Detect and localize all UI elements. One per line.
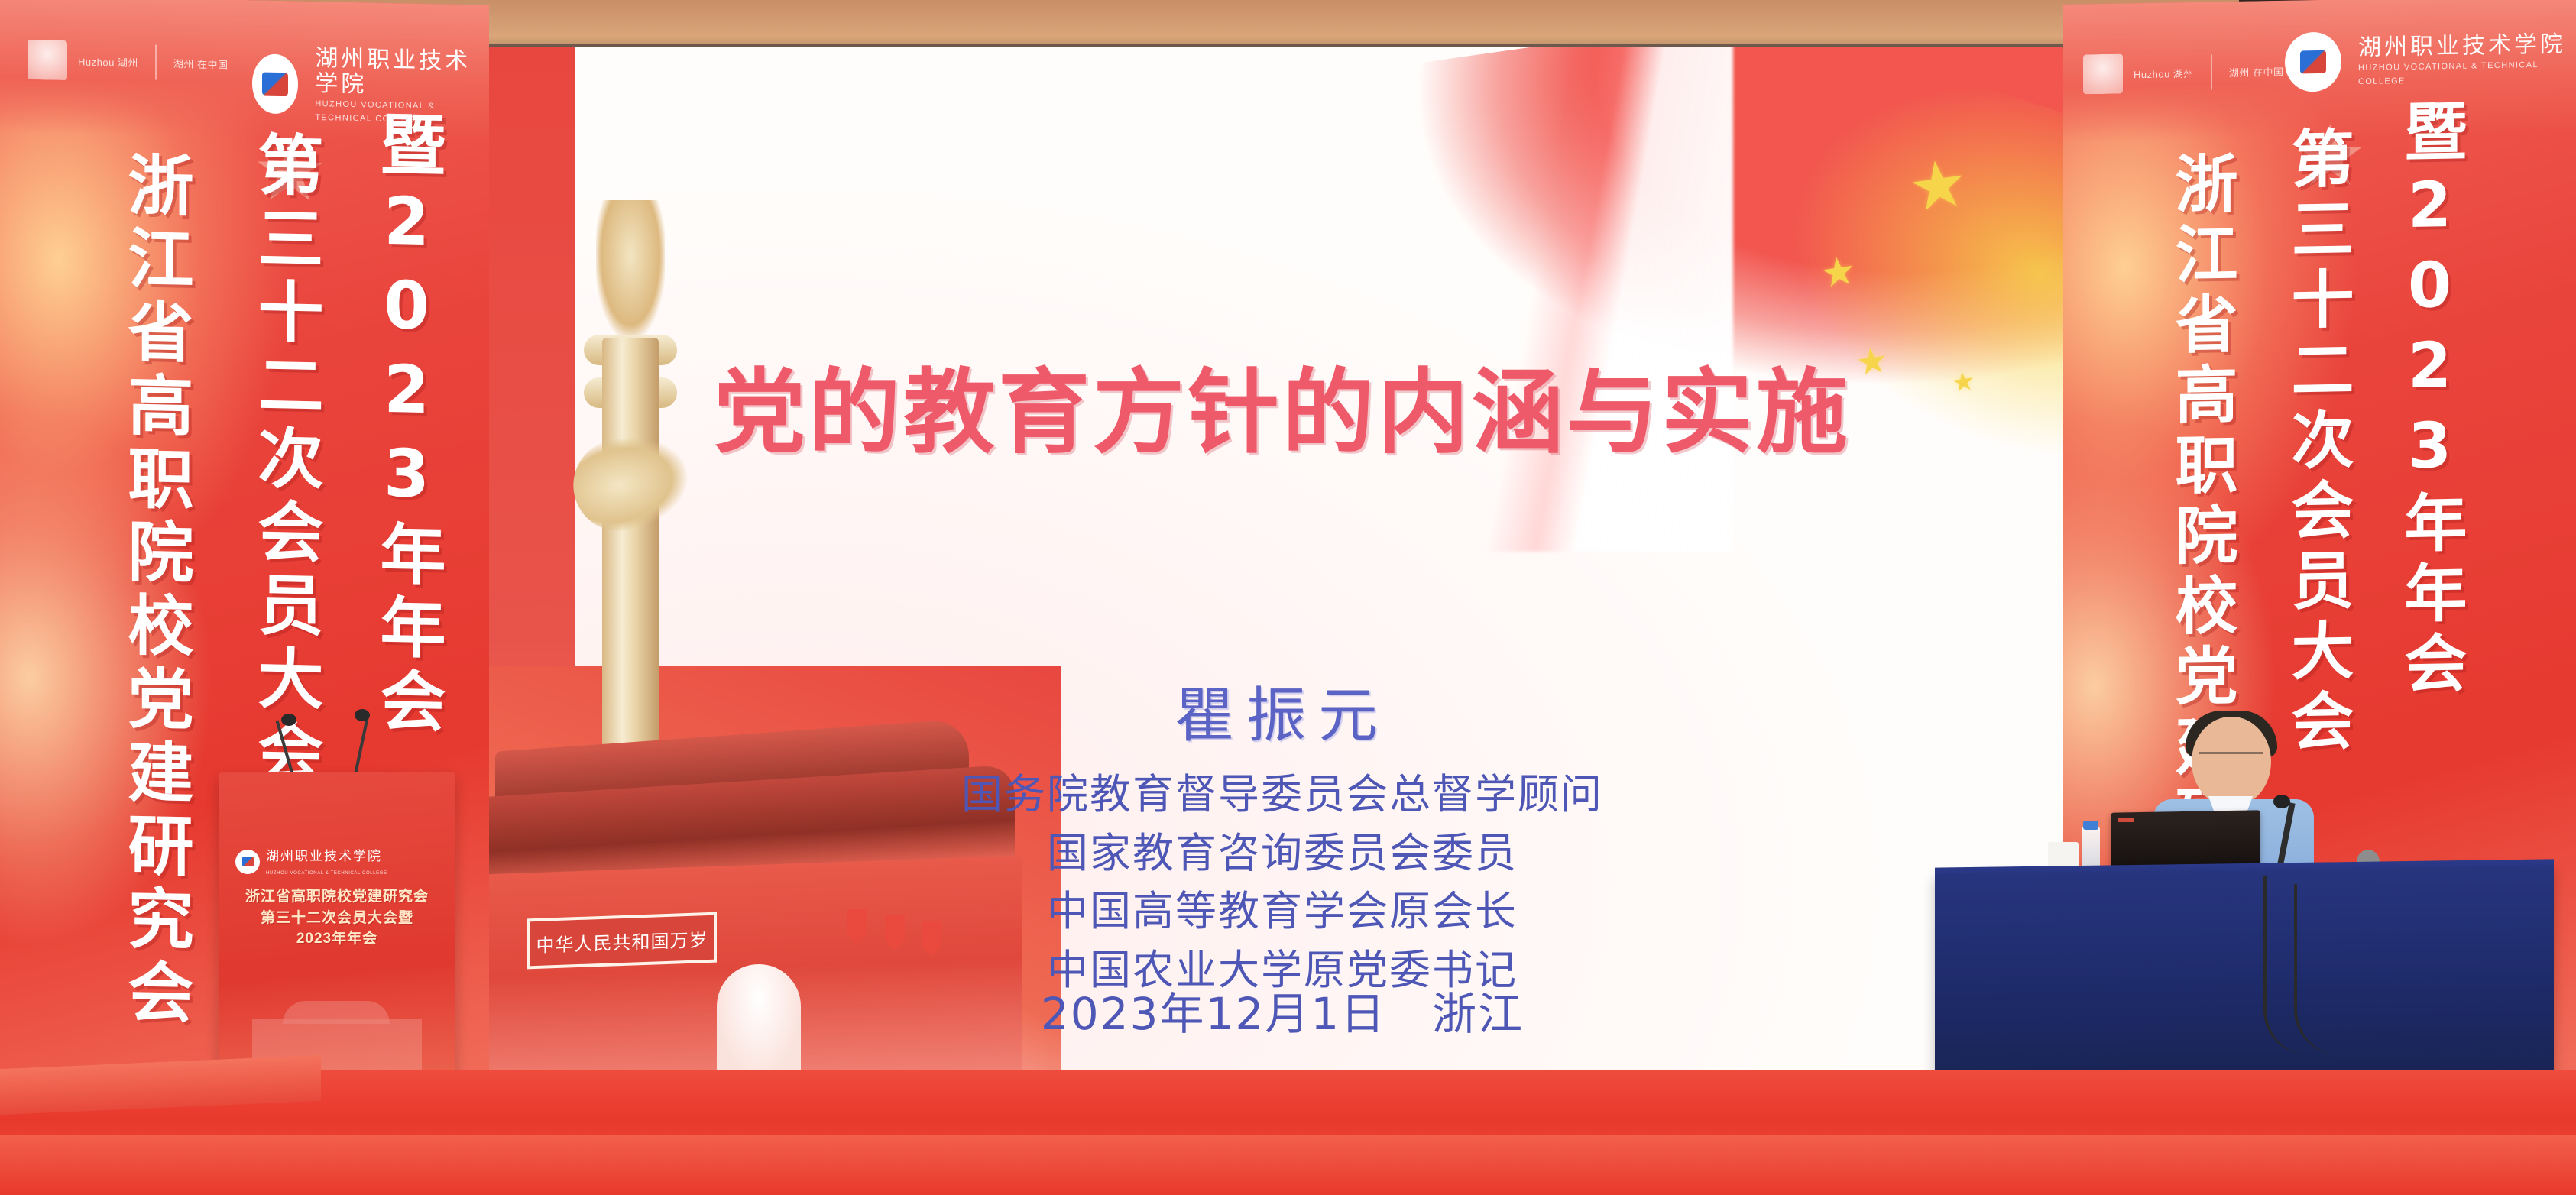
podium-line: 2023年年会 xyxy=(219,928,455,950)
laptop-logo-icon xyxy=(2118,818,2134,822)
sponsor-logo-1-right: Huzhou 湖州 xyxy=(2083,53,2194,95)
podium-line: 浙江省高职院校党建研究会 xyxy=(219,886,455,908)
table-microphone-head xyxy=(2273,795,2290,808)
sponsor-mark-icon xyxy=(28,40,67,80)
sponsor2-label: 湖州 在中国 xyxy=(2229,63,2284,79)
podium-front-panel: 湖州职业技术学院 HUZHOU VOCATIONAL & TECHNICAL C… xyxy=(219,772,455,1100)
college-logo-icon xyxy=(235,850,260,874)
slide-surface: ★ ★ ★ ★ xyxy=(465,47,2100,1094)
banner-left-column-2: 第三十二次会员大会 xyxy=(237,130,332,792)
water-bottle-cap xyxy=(2083,821,2098,830)
presenter-glasses xyxy=(2199,752,2263,766)
slide-date-location: 2023年12月1日 浙江 xyxy=(465,978,2100,1042)
banner-right-column-2: 第三十二次会员大会 xyxy=(2271,125,2362,759)
conference-stage-photo: ★ ★ ★ ★ xyxy=(0,0,2576,1195)
slide-date-text: 2023年12月1日 浙江 xyxy=(1041,988,1524,1040)
podium-line: 第三十二次会员大会暨 xyxy=(219,908,455,929)
sponsor2-label: 湖州 在中国 xyxy=(173,56,228,72)
banner-right-column-3: 暨2023年年会 xyxy=(2384,98,2475,701)
projection-screen: ★ ★ ★ ★ xyxy=(465,47,2100,1094)
speaker-credentials: 国务院教育督导委员会总督学顾问 国家教育咨询委员会委员 中国高等教育学会原会长 … xyxy=(465,766,2100,1000)
banner-left-column-3: 暨2023年年会 xyxy=(359,109,455,741)
banner-left-column-1: 浙江省高职院校党建研究会 xyxy=(107,150,203,1032)
slide-title: 党的教育方针的内涵与实施 xyxy=(465,338,2100,471)
sponsor-logo-2-right: 湖州 在中国 xyxy=(2229,63,2284,79)
podium-microphone-left-head xyxy=(281,714,296,726)
logo-divider xyxy=(2211,54,2212,89)
podium-college-logo: 湖州职业技术学院 HUZHOU VOCATIONAL & TECHNICAL C… xyxy=(235,845,387,878)
college-name-en: HUZHOU VOCATIONAL & TECHNICAL COLLEGE xyxy=(2358,60,2539,86)
podium: 湖州职业技术学院 HUZHOU VOCATIONAL & TECHNICAL C… xyxy=(219,772,455,1100)
slide-title-text: 党的教育方针的内涵与实施 xyxy=(714,360,1851,466)
stage-front-edge xyxy=(0,1135,2576,1195)
podium-microphone-right-head xyxy=(355,709,370,721)
college-name: 湖州职业技术学院 xyxy=(2358,31,2566,61)
speaker-name-text: 瞿振元 xyxy=(1175,682,1390,750)
sponsor-logo-1: Huzhou 湖州 xyxy=(28,40,138,82)
logo-divider xyxy=(155,45,157,80)
credential-line: 国务院教育督导委员会总督学顾问 xyxy=(465,766,2100,824)
podium-college-name: 湖州职业技术学院 xyxy=(266,849,382,864)
flag-torn-edge xyxy=(1412,47,1733,552)
sponsor-label: Huzhou 湖州 xyxy=(78,53,138,70)
credential-line: 国家教育咨询委员会委员 xyxy=(465,824,2100,883)
podium-college-name-en: HUZHOU VOCATIONAL & TECHNICAL COLLEGE xyxy=(266,871,387,876)
college-logo-icon xyxy=(2285,32,2341,92)
speaker-name: 瞿振元 xyxy=(465,668,2100,753)
credential-line: 中国高等教育学会原会长 xyxy=(465,882,2100,941)
sponsor-label: Huzhou 湖州 xyxy=(2134,65,2194,80)
podium-event-lines: 浙江省高职院校党建研究会 第三十二次会员大会暨 2023年年会 xyxy=(219,886,455,950)
college-logo-icon xyxy=(252,53,298,114)
sponsor-mark-icon xyxy=(2083,53,2123,94)
sponsor-logo-2: 湖州 在中国 xyxy=(173,56,228,72)
speaker-table xyxy=(1935,865,2554,1103)
college-name: 湖州职业技术学院 xyxy=(315,45,471,98)
